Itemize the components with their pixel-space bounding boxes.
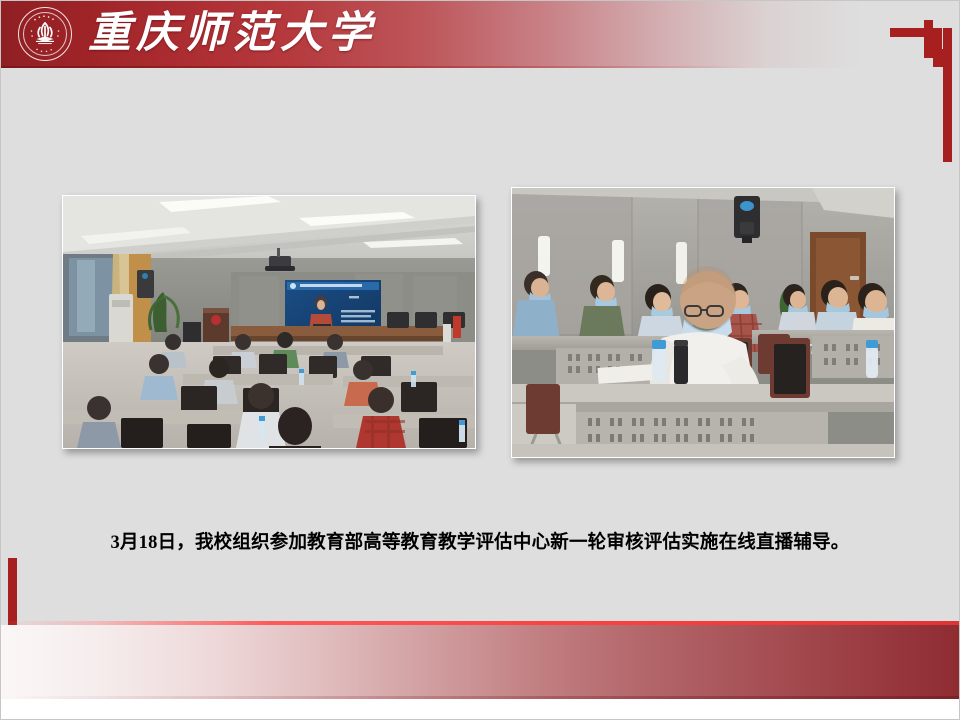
footer-decoration xyxy=(0,621,960,699)
slide-caption: 3月18日，我校组织参加教育部高等教育教学评估中心新一轮审核评估实施在线直播辅导… xyxy=(0,528,960,554)
header-banner: 重庆师范大学 xyxy=(0,0,960,68)
university-title: 重庆师范大学 xyxy=(88,4,376,64)
lecture-hall-scene xyxy=(63,196,475,448)
university-seal-icon xyxy=(16,5,74,63)
seal-emblem-glyph xyxy=(16,5,74,63)
chinese-key-corner-bracket-icon xyxy=(850,2,960,162)
photo-lecture-hall-wide xyxy=(62,195,476,449)
photo-attendees-taking-notes xyxy=(511,187,895,458)
corner-ornament-top-right xyxy=(850,2,960,162)
slide-canvas: 重庆师范大学 xyxy=(0,0,960,720)
page-bottom-margin xyxy=(0,699,960,720)
footer-gradient-band xyxy=(0,625,960,699)
attendees-scene xyxy=(512,188,894,457)
